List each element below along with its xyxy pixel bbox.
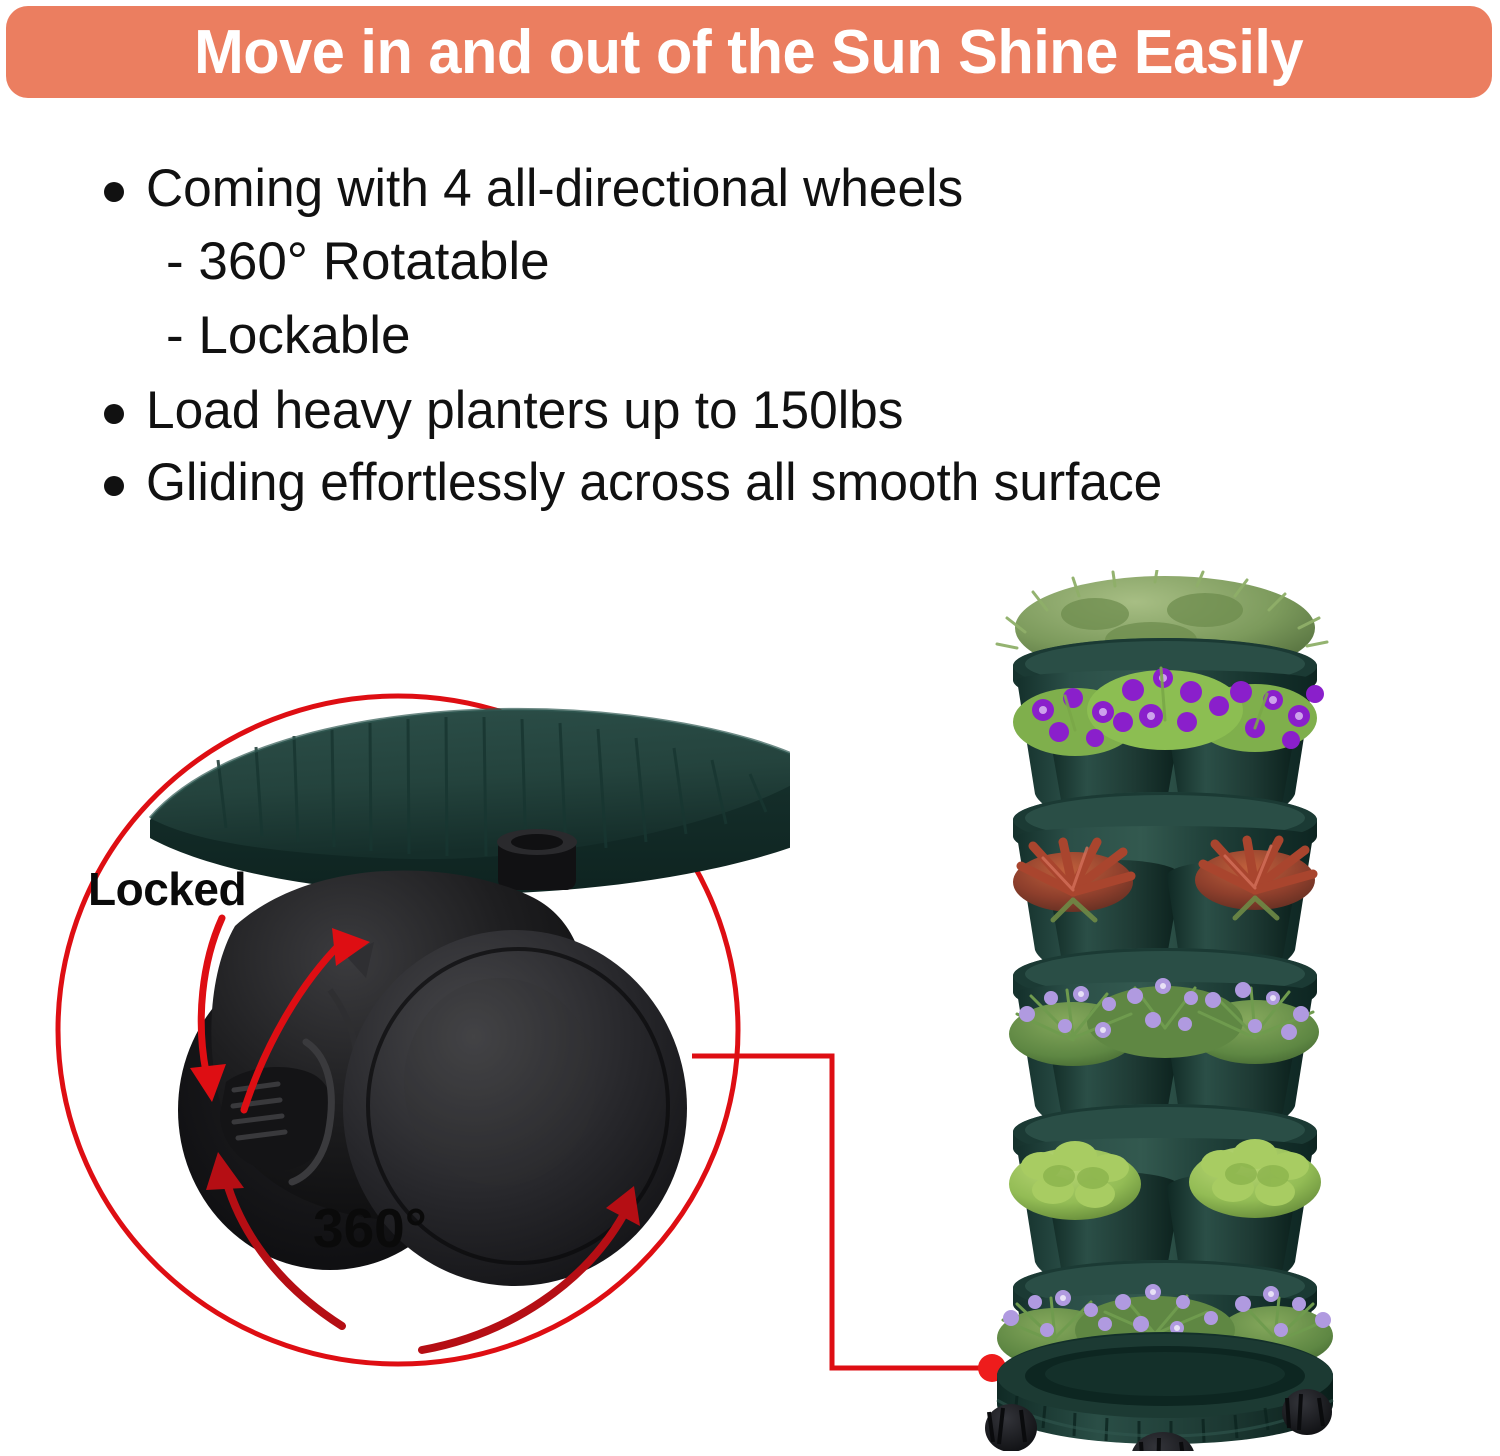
rotation-label: 360°	[313, 1196, 427, 1260]
list-item: Coming with 4 all-directional wheels	[104, 158, 1484, 221]
locked-label: Locked	[88, 862, 246, 916]
feature-text: Gliding effortlessly across all smooth s…	[146, 452, 1162, 515]
feature-text: Coming with 4 all-directional wheels	[146, 158, 963, 221]
caster-wheel	[178, 829, 687, 1286]
planter-wheeled-base	[985, 1332, 1333, 1451]
bullet-dot-icon	[104, 404, 124, 424]
list-item: Load heavy planters up to 150lbs	[104, 380, 1484, 443]
caster-wheel	[1282, 1389, 1332, 1435]
feature-text: Load heavy planters up to 150lbs	[146, 380, 903, 443]
caster-wheel	[985, 1404, 1037, 1451]
header-banner: Move in and out of the Sun Shine Easily	[6, 6, 1492, 98]
header-title: Move in and out of the Sun Shine Easily	[195, 17, 1304, 88]
bullet-dot-icon	[104, 182, 124, 202]
feature-sub-text: - Lockable	[104, 305, 1484, 368]
list-item: Gliding effortlessly across all smooth s…	[104, 452, 1484, 515]
stackable-planter-tower	[955, 570, 1375, 1451]
feature-list: Coming with 4 all-directional wheels - 3…	[104, 158, 1484, 525]
bullet-dot-icon	[104, 476, 124, 496]
feature-sub-text: - 360° Rotatable	[104, 231, 1484, 294]
